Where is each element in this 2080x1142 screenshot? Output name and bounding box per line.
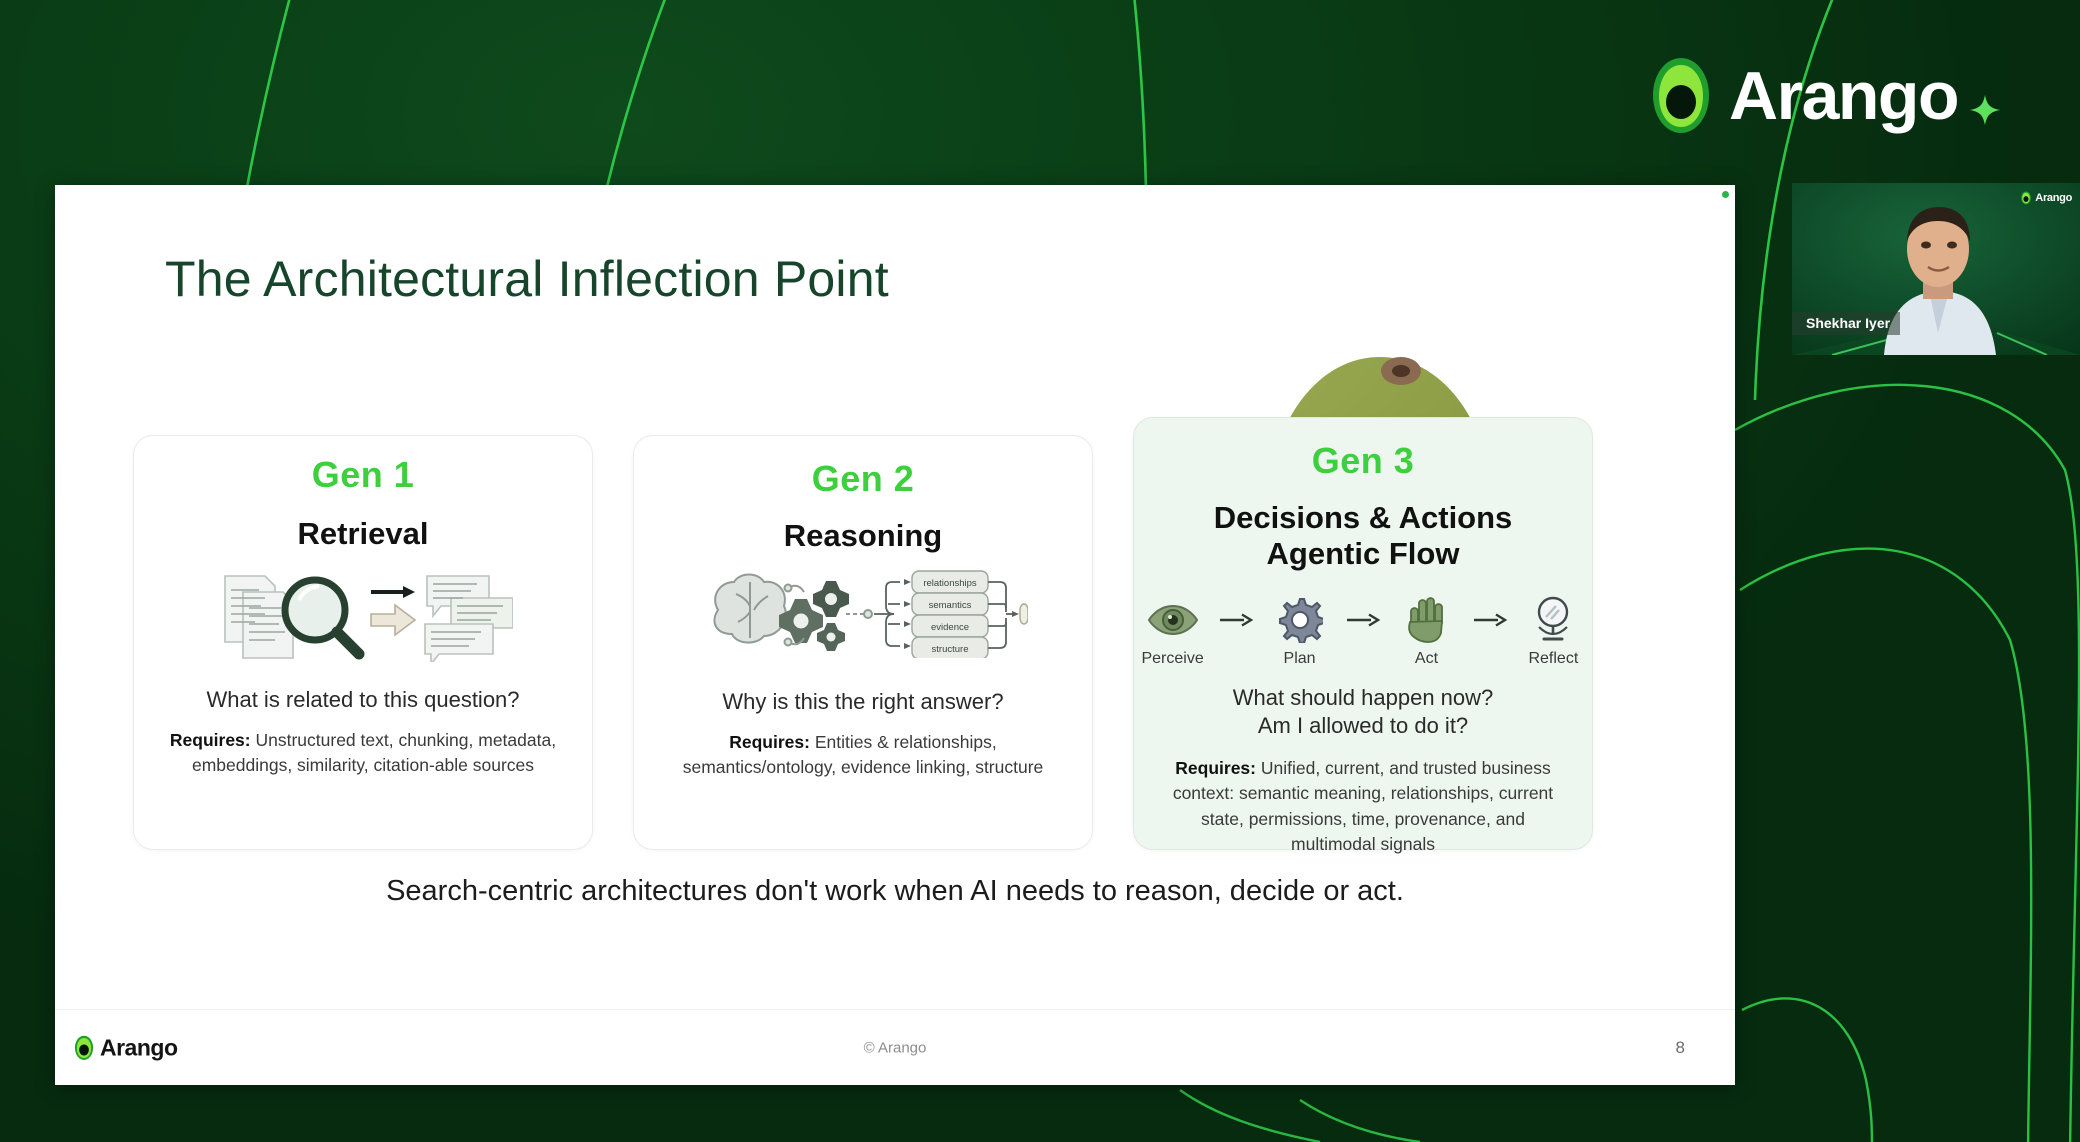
flow-step-label: Perceive bbox=[1134, 650, 1211, 668]
flow-step-perceive: Perceive bbox=[1134, 594, 1211, 668]
card-gen-label: Gen 3 bbox=[1134, 440, 1592, 482]
diagram-node-label: semantics bbox=[929, 600, 972, 611]
hand-icon bbox=[1388, 594, 1465, 646]
footer-copyright: © Arango bbox=[55, 1039, 1735, 1056]
diagram-node-label: relationships bbox=[923, 578, 977, 589]
avocado-logo-icon bbox=[2020, 191, 2032, 205]
flow-step-act: Act bbox=[1388, 594, 1465, 668]
card-question: Why is this the right answer? bbox=[634, 688, 1092, 716]
card-title-line-2: Agentic Flow bbox=[1134, 536, 1592, 572]
eye-icon bbox=[1134, 594, 1211, 646]
card-gen-label: Gen 1 bbox=[134, 454, 592, 496]
card-requires: Requires: Unified, current, and trusted … bbox=[1134, 756, 1592, 857]
card-question-line-1: What should happen now? bbox=[1152, 684, 1574, 712]
diagram-node-label: structure bbox=[932, 644, 969, 655]
card-artwork bbox=[134, 566, 592, 662]
card-question-line-2: Am I allowed to do it? bbox=[1152, 712, 1574, 740]
video-arango-watermark: Arango bbox=[2020, 191, 2072, 205]
card-question: What should happen now? Am I allowed to … bbox=[1134, 684, 1592, 740]
mirror-icon bbox=[1515, 594, 1592, 646]
card-gen-1[interactable]: Gen 1 Retrieval bbox=[133, 435, 593, 850]
page-title: The Architectural Inflection Point bbox=[165, 250, 889, 308]
slide-corner-indicator bbox=[1722, 191, 1729, 198]
video-watermark-text: Arango bbox=[2035, 192, 2072, 204]
card-question: What is related to this question? bbox=[134, 686, 592, 714]
arrow-right-icon bbox=[1471, 594, 1509, 646]
diagram-node-label: evidence bbox=[931, 622, 969, 633]
flow-step-label: Reflect bbox=[1515, 650, 1592, 668]
card-gen-2[interactable]: Gen 2 Reasoning bbox=[633, 435, 1093, 850]
card-title: Retrieval bbox=[134, 516, 592, 552]
generation-cards-row: Gen 1 Retrieval bbox=[133, 407, 1653, 827]
card-requires-label: Requires: bbox=[1175, 758, 1256, 778]
avocado-logo-icon bbox=[1647, 55, 1715, 137]
brain-gears-reasoning-graph-icon: relationships semantics evidence structu… bbox=[698, 562, 1028, 658]
card-requires-label: Requires: bbox=[170, 730, 251, 750]
arrow-right-icon bbox=[1344, 594, 1382, 646]
agentic-flow-diagram: Perceive Plan bbox=[1134, 594, 1592, 668]
speaker-video-panel[interactable]: Arango Shekhar Iyer bbox=[1792, 183, 2080, 355]
flow-step-plan: Plan bbox=[1261, 594, 1338, 668]
card-requires-label: Requires: bbox=[729, 732, 810, 752]
arango-wordmark: Arango bbox=[1729, 57, 1958, 135]
card-gen-label: Gen 2 bbox=[634, 458, 1092, 500]
presentation-slide[interactable]: The Architectural Inflection Point bbox=[55, 185, 1735, 1085]
flow-step-reflect: Reflect bbox=[1515, 594, 1592, 668]
slide-footer: Arango © Arango 8 bbox=[55, 1009, 1735, 1085]
slide-caption: Search-centric architectures don't work … bbox=[55, 875, 1735, 908]
documents-magnifier-search-icon bbox=[213, 566, 513, 662]
flow-step-label: Act bbox=[1388, 650, 1465, 668]
gear-icon bbox=[1261, 594, 1338, 646]
speaker-name-badge: Shekhar Iyer bbox=[1792, 312, 1900, 335]
card-requires: Requires: Entities & relationships, sema… bbox=[634, 730, 1092, 780]
flow-step-label: Plan bbox=[1261, 650, 1338, 668]
card-title: Decisions & Actions Agentic Flow bbox=[1134, 500, 1592, 572]
sparkle-icon bbox=[1968, 93, 2002, 127]
footer-page-number: 8 bbox=[1676, 1038, 1685, 1058]
card-requires: Requires: Unstructured text, chunking, m… bbox=[134, 728, 592, 778]
arrow-right-icon bbox=[1217, 594, 1255, 646]
card-artwork: relationships semantics evidence structu… bbox=[634, 562, 1092, 658]
card-title-line-1: Decisions & Actions bbox=[1134, 500, 1592, 536]
arango-header-logo: Arango bbox=[1647, 55, 2002, 137]
card-gen-3[interactable]: Gen 3 Decisions & Actions Agentic Flow bbox=[1133, 417, 1593, 850]
card-title: Reasoning bbox=[634, 518, 1092, 554]
